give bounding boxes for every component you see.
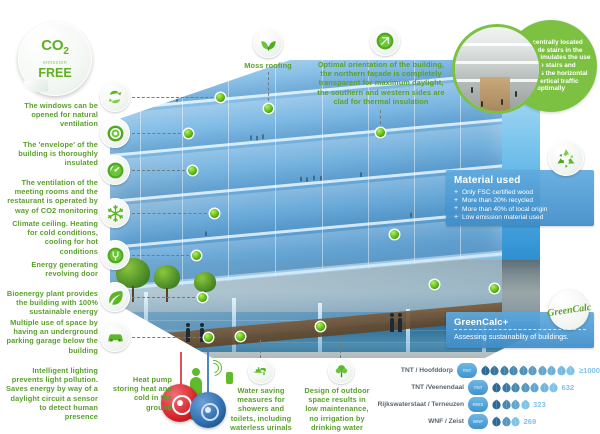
leader-ventilation xyxy=(132,170,190,171)
chart-leaf xyxy=(511,399,520,410)
recycle-arrows-icon xyxy=(100,82,130,112)
greencalc-score-chart: TNT / Hoofddorp TNT ≥1000 TNT /Veenendaa… xyxy=(372,362,600,432)
greencalc-logo-text: GreenCalc xyxy=(546,301,592,318)
chart-row-badge: WNF xyxy=(468,414,488,429)
hotspot-windows xyxy=(216,93,225,102)
chart-leaf xyxy=(502,382,511,393)
plug-leaf-icon xyxy=(100,240,130,270)
chart-leaf xyxy=(519,365,528,376)
climate-ceiling-label: Climate ceiling. Heating for cold condit… xyxy=(6,219,98,256)
cold-line xyxy=(207,352,209,394)
bioenergy-label: Bioenergy plant provides the building wi… xyxy=(6,289,98,317)
co2-badge-line3: FREE xyxy=(38,67,71,79)
chart-leaf xyxy=(547,365,556,376)
leader-water xyxy=(260,340,261,358)
chart-leaf xyxy=(502,399,511,410)
chart-row-leaves xyxy=(492,382,559,393)
chart-leaf xyxy=(521,382,530,393)
chart-leaf xyxy=(538,365,547,376)
co2-free-badge: CO2 emission FREE xyxy=(18,22,92,96)
daylight-sensor-icon xyxy=(226,372,233,384)
chart-leaf xyxy=(509,365,518,376)
chart-row-leaves xyxy=(492,399,530,410)
chart-row-label: WNF / Zeist xyxy=(372,418,468,425)
leaves-icon xyxy=(253,28,283,58)
leader-envelope xyxy=(132,133,186,134)
chart-leaf xyxy=(566,365,575,376)
chart-leaf xyxy=(481,365,490,376)
leader-bioenergy xyxy=(132,297,200,298)
cold-sphere-core xyxy=(205,407,211,413)
outdoor-space-label: Design of outdoor space results in low m… xyxy=(303,386,371,432)
chart-leaf xyxy=(540,382,549,393)
water-saving-label: Water saving measures for showers and to… xyxy=(229,386,293,432)
chart-row-leaves xyxy=(492,416,521,427)
chart-row-label: TNT /Veenendaal xyxy=(372,384,468,391)
hotspot-water xyxy=(236,332,245,341)
chart-leaf xyxy=(521,399,530,410)
greencalc-subtitle: Assessing sustainablity of buildings. xyxy=(454,332,586,341)
chart-row: Rijkswaterstaat / Terneuzen RWS 323 xyxy=(372,396,600,412)
chart-leaf xyxy=(528,365,537,376)
leader-windows xyxy=(132,97,218,98)
chart-row: TNT /Veenendaal TNT 632 xyxy=(372,379,600,395)
chart-row: TNT / Hoofddorp TNT ≥1000 xyxy=(372,362,600,378)
chart-leaf xyxy=(502,416,511,427)
chart-row-label: Rijkswaterstaat / Terneuzen xyxy=(372,401,468,408)
lighting-label: Intelligent lighting prevents light poll… xyxy=(6,366,98,421)
hotspot-envelope xyxy=(184,129,193,138)
hotspot-parking xyxy=(204,333,213,342)
atrium-photo xyxy=(452,24,542,114)
chart-leaf xyxy=(490,365,499,376)
envelope-label: The 'envelope' of the building is thorou… xyxy=(6,140,98,168)
chart-leaf xyxy=(511,416,520,427)
chart-row-badge: RWS xyxy=(468,397,488,412)
chart-leaf xyxy=(492,416,501,427)
leader-door xyxy=(132,255,194,256)
hotspot-bioenergy xyxy=(198,293,207,302)
moss-roofing-label: Moss roofing xyxy=(228,61,308,70)
hotspot-plaza xyxy=(490,284,499,293)
hotspot-facade xyxy=(430,280,439,289)
leaf-icon xyxy=(100,282,130,312)
hotspot-door xyxy=(192,251,201,260)
car-icon xyxy=(100,322,130,352)
orientation-label: Optimal orientation of the building, the… xyxy=(316,60,446,106)
chart-row-value: 269 xyxy=(524,417,537,426)
hotspot-moss xyxy=(264,104,273,113)
sticker-curl xyxy=(24,79,49,93)
chart-leaf xyxy=(500,365,509,376)
tree-icon xyxy=(328,358,354,384)
hotspot-atrium xyxy=(390,230,399,239)
revolving-door-label: Energy generating revolving door xyxy=(6,260,98,278)
material-used-title: Material used xyxy=(454,175,586,186)
chart-leaf xyxy=(549,382,558,393)
hotspot-ventilation xyxy=(188,166,197,175)
recycle-icon xyxy=(548,140,584,176)
ventilation-label: The ventilation of the meeting rooms and… xyxy=(6,178,98,215)
target-icon xyxy=(100,118,130,148)
chart-row-label: TNT / Hoofddorp xyxy=(372,367,457,374)
infographic-canvas: CO2 emission FREE The centrally located … xyxy=(0,0,600,434)
heat-pump-label: Heat pump storing heat and cold in the g… xyxy=(110,375,172,412)
chart-row-leaves xyxy=(481,365,576,376)
chart-leaf xyxy=(511,382,520,393)
hotspot-orientation xyxy=(376,128,385,137)
chart-row-value: 632 xyxy=(562,383,575,392)
material-item: Only FSC certified wood xyxy=(454,189,586,197)
chart-row-value: ≥1000 xyxy=(579,366,600,375)
chart-leaf xyxy=(530,382,539,393)
faucet-icon xyxy=(248,358,274,384)
leader-orientation xyxy=(380,110,381,130)
chart-leaf xyxy=(492,399,501,410)
leader-outdoor xyxy=(340,340,341,358)
material-item: Low emission material used xyxy=(454,214,586,222)
co2-gauge-icon xyxy=(100,155,130,185)
co2-badge-line1: CO2 xyxy=(41,39,68,59)
chart-row-value: 323 xyxy=(533,400,546,409)
leader-climate xyxy=(132,213,212,214)
chart-row-badge: TNT xyxy=(468,380,488,395)
hotspot-outdoor xyxy=(316,322,325,331)
leader-moss xyxy=(268,72,269,106)
snowflake-icon xyxy=(100,198,130,228)
material-item: More than 20% recycled xyxy=(454,197,586,205)
heat-sphere-core xyxy=(177,400,183,406)
sun-compass-icon xyxy=(370,26,400,56)
greencalc-logo: GreenCalc xyxy=(549,290,589,330)
leader-parking xyxy=(132,337,206,338)
chart-row-badge: TNT xyxy=(457,363,477,378)
chart-leaf xyxy=(557,365,566,376)
parking-label: Multiple use of space by having an under… xyxy=(6,318,98,355)
windows-label: The windows can be opened for natural ve… xyxy=(6,101,98,129)
chart-row: WNF / Zeist WNF 269 xyxy=(372,413,600,429)
chart-leaf xyxy=(492,382,501,393)
material-used-box: Material used Only FSC certified wood Mo… xyxy=(446,170,594,226)
hotspot-climate xyxy=(210,209,219,218)
material-item: More than 40% of local origin xyxy=(454,206,586,214)
material-used-list: Only FSC certified wood More than 20% re… xyxy=(454,189,586,223)
